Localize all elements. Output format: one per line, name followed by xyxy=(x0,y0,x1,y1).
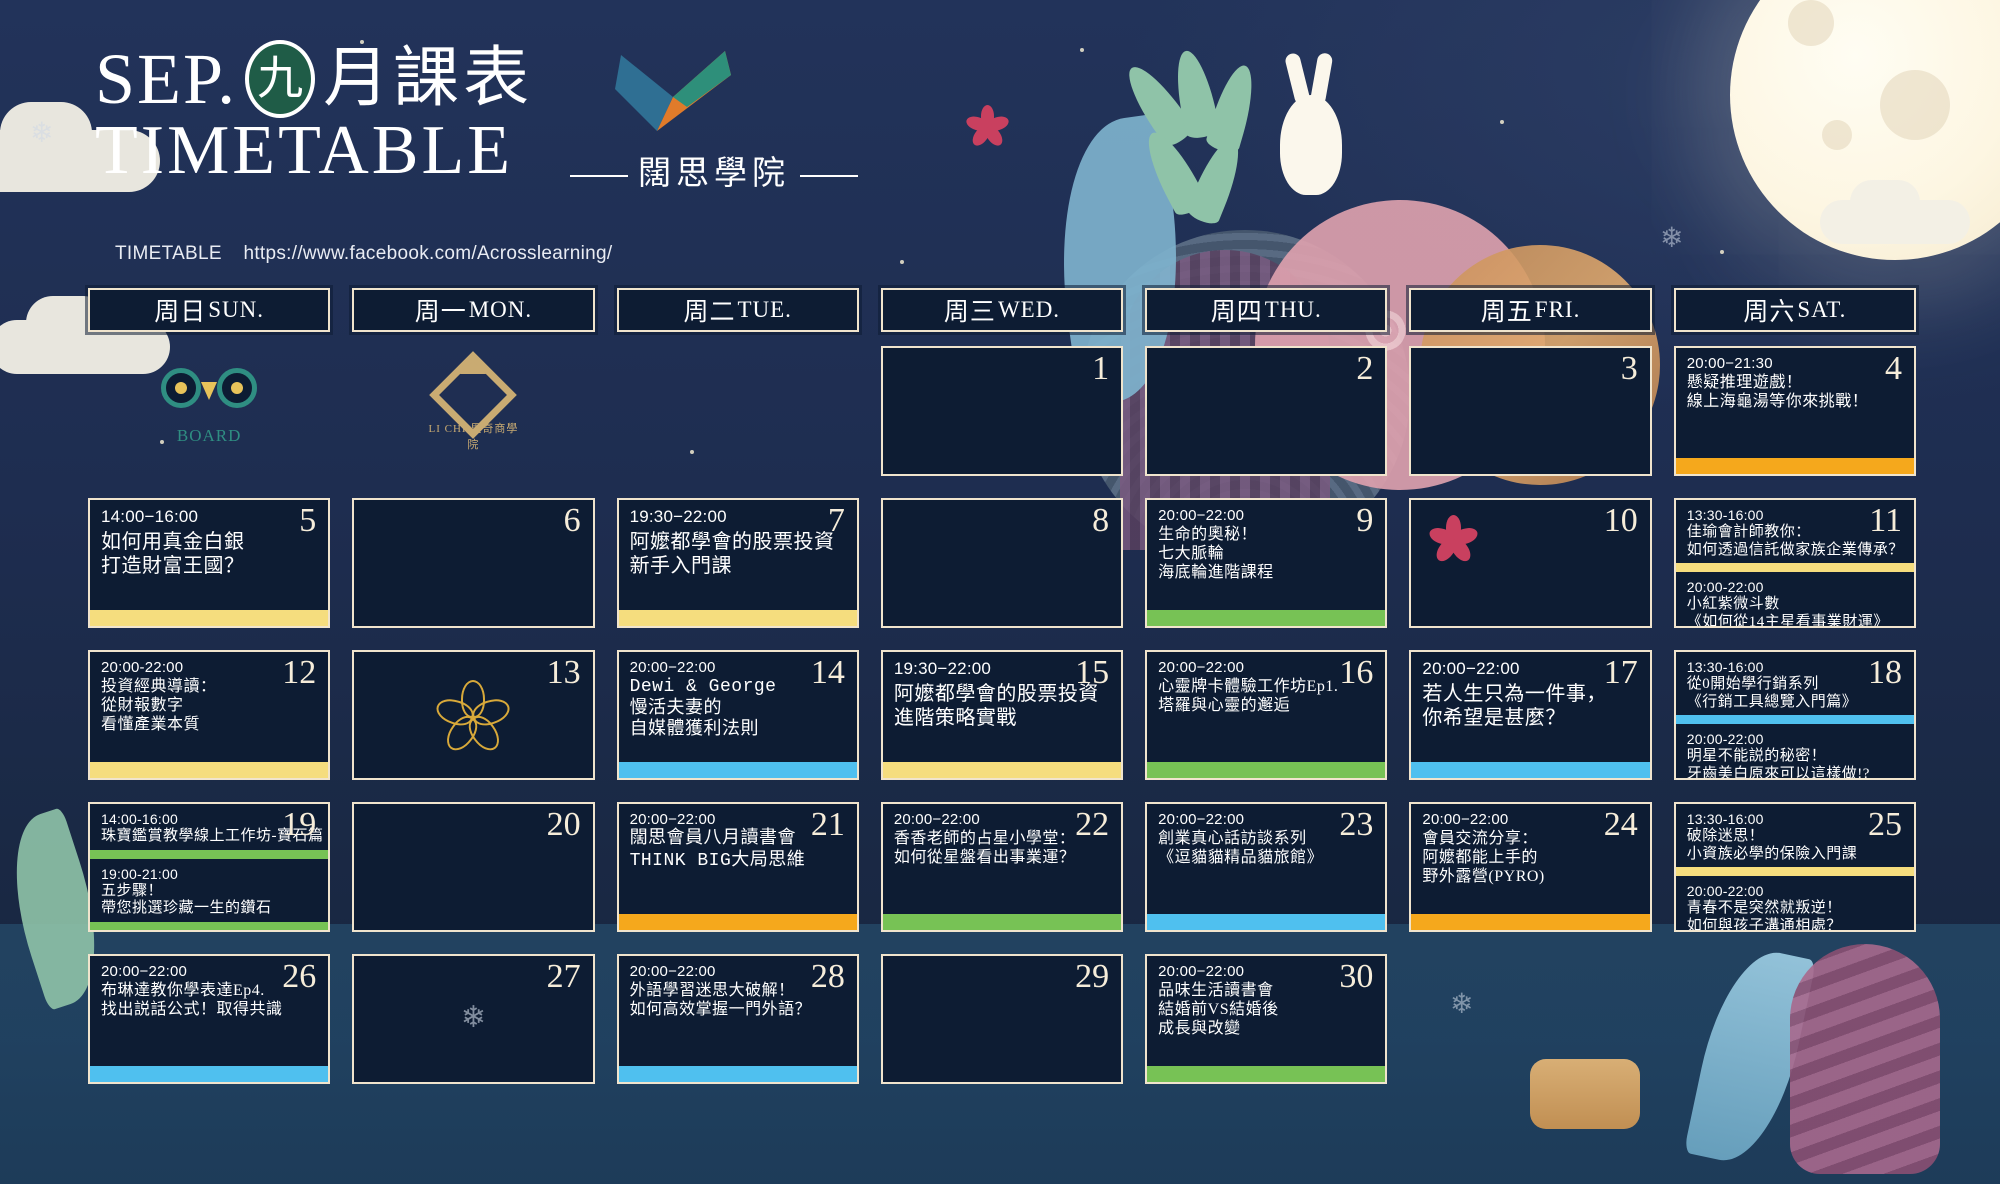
event-item[interactable]: 20:00−22:00若人生只為一件事，你希望是甚麼？ xyxy=(1411,652,1649,735)
weekday-en: TUE. xyxy=(737,297,791,323)
event-title-line: 創業真心話訪談系列 xyxy=(1158,829,1374,848)
calendar-cell-14[interactable]: 1420:00−22:00Dewi & George慢活夫妻的自媒體獲利法則 xyxy=(617,650,859,780)
calendar-cell-24[interactable]: 2420:00−22:00會員交流分享：阿嬤都能上手的野外露營(PYRO) xyxy=(1409,802,1651,932)
event-list: 20:00−22:00心靈牌卡體驗工作坊Ep1.塔羅與心靈的邂逅 xyxy=(1147,652,1385,762)
lichi-logo-text: LI CHI 里奇商學院 xyxy=(427,420,519,452)
event-time: 20:00−22:00 xyxy=(1158,811,1374,828)
event-time: 13:30-16:00 xyxy=(1687,507,1903,523)
event-time: 13:30-16:00 xyxy=(1687,659,1903,675)
event-list: 19:30−22:00阿嬤都學會的股票投資新手入門課 xyxy=(619,500,857,610)
event-title-line: 投資經典導讀： xyxy=(101,677,317,696)
month-badge: 九 xyxy=(245,40,315,118)
event-item[interactable]: 20:00-22:00青春不是突然就叛逆！如何與孩子溝通相處？ xyxy=(1676,876,1914,932)
event-time: 20:00-22:00 xyxy=(1687,731,1903,747)
weekday-cn: 周三 xyxy=(944,292,996,328)
event-time: 20:00−22:00 xyxy=(630,659,846,676)
weekday-en: THU. xyxy=(1265,297,1322,323)
url-line: TIMETABLE https://www.facebook.com/Acros… xyxy=(115,243,612,265)
category-color-bar xyxy=(883,762,1121,778)
category-color-bar xyxy=(619,762,857,778)
event-title-line: 成長與改變 xyxy=(1158,1019,1374,1038)
event-list: 20:00−22:00若人生只為一件事，你希望是甚麼？ xyxy=(1411,652,1649,762)
weekday-header-row: 周日SUN.周一MON.周二TUE.周三WED.周四THU.周五FRI.周六SA… xyxy=(88,288,1916,332)
weekday-header-fri: 周五FRI. xyxy=(1409,288,1651,332)
event-item[interactable]: 14:00−16:00如何用真金白銀打造財富王國？ xyxy=(90,500,328,583)
gold-flower-icon xyxy=(435,678,511,754)
calendar-cell-22[interactable]: 2220:00−22:00香香老師的占星小學堂：如何從星盤看出事業運？ xyxy=(881,802,1123,932)
event-title-line: 進階策略實戰 xyxy=(894,706,1110,730)
calendar-cell-empty: BOARD xyxy=(88,346,330,476)
calendar-cell-9[interactable]: 920:00−22:00生命的奧秘！七大脈輪海底輪進階課程 xyxy=(1145,498,1387,628)
event-list: 13:30-16:00從0開始學行銷系列《行銷工具總覽入門篇》20:00-22:… xyxy=(1676,652,1914,780)
event-list xyxy=(354,804,592,930)
event-list: 13:30-16:00佳瑜會計師教你：如何透過信託做家族企業傳承？20:00-2… xyxy=(1676,500,1914,628)
event-list: 20:00−22:00會員交流分享：阿嬤都能上手的野外露營(PYRO) xyxy=(1411,804,1649,914)
brand-name: 闊思學院 xyxy=(560,146,790,194)
event-title-line: 《逗貓貓精品貓旅館》 xyxy=(1158,848,1374,867)
event-list xyxy=(354,652,592,778)
event-title-line: 線上海龜湯等你來挑戰！ xyxy=(1687,392,1903,411)
event-title-line: 《如何從14主星看事業財運》 xyxy=(1687,614,1903,628)
event-title-line: 外語學習迷思大破解！ xyxy=(630,981,846,1000)
event-time: 20:00−22:00 xyxy=(630,811,846,828)
category-divider xyxy=(1676,867,1914,876)
calendar-cell-16[interactable]: 1620:00−22:00心靈牌卡體驗工作坊Ep1.塔羅與心靈的邂逅 xyxy=(1145,650,1387,780)
owl-logo-text: BOARD xyxy=(155,426,263,446)
event-list xyxy=(1147,348,1385,474)
event-time: 20:00−22:00 xyxy=(1422,659,1638,679)
event-title-line: 心靈牌卡體驗工作坊Ep1. xyxy=(1158,677,1374,696)
calendar-cell-20[interactable]: 20 xyxy=(352,802,594,932)
event-title-line: 帶您挑選珍藏一生的鑽石 xyxy=(101,900,317,918)
event-list xyxy=(617,346,859,476)
calendar-cell-23[interactable]: 2320:00−22:00創業真心話訪談系列《逗貓貓精品貓旅館》 xyxy=(1145,802,1387,932)
event-title-line: 從0開始學行銷系列 xyxy=(1687,676,1903,694)
event-list: 20:00−22:00創業真心話訪談系列《逗貓貓精品貓旅館》 xyxy=(1147,804,1385,914)
event-title-line: 如何從星盤看出事業運？ xyxy=(894,848,1110,867)
title-line-1: SEP. 九 月課表 xyxy=(95,40,533,118)
event-title-line: THINK BIG大局思維 xyxy=(630,851,846,873)
category-color-bar xyxy=(1147,762,1385,778)
calendar-cell-7[interactable]: 719:30−22:00阿嬤都學會的股票投資新手入門課 xyxy=(617,498,859,628)
event-item[interactable]: 20:00−22:00布琳達教你學表達Ep4.找出説話公式！取得共識 xyxy=(90,956,328,1023)
event-list: 19:30−22:00阿嬤都學會的股票投資進階策略實戰 xyxy=(883,652,1121,762)
event-time: 20:00−22:00 xyxy=(894,811,1110,828)
month-abbrev: SEP. xyxy=(95,43,237,115)
event-list: BOARD xyxy=(88,346,330,476)
event-item[interactable]: 20:00−22:00闊思會員八月讀書會THINK BIG大局思維 xyxy=(619,804,857,876)
event-title-line: 新手入門課 xyxy=(630,554,846,578)
event-item[interactable]: 20:00-22:00投資經典導讀：從財報數字看懂產業本質 xyxy=(90,652,328,739)
event-time: 13:30-16:00 xyxy=(1687,811,1903,827)
event-list: 13:30-16:00破除迷思！小資族必學的保險入門課20:00-22:00青春… xyxy=(1676,804,1914,932)
event-time: 19:00-21:00 xyxy=(101,866,317,882)
calendar-cell-17[interactable]: 1720:00−22:00若人生只為一件事，你希望是甚麼？ xyxy=(1409,650,1651,780)
snowflake-icon: ❄ xyxy=(354,1000,592,1035)
event-list: 14:00−16:00如何用真金白銀打造財富王國？ xyxy=(90,500,328,610)
event-list: 20:00−22:00品味生活讀書會結婚前VS結婚後成長與改變 xyxy=(1147,956,1385,1066)
event-title-line: 牙齒美白原來可以這樣做!? xyxy=(1687,766,1903,780)
event-time: 20:00-22:00 xyxy=(101,659,317,676)
event-title-line: 明星不能説的秘密！ xyxy=(1687,748,1903,766)
event-list xyxy=(1411,500,1649,626)
event-title-line: 打造財富王國？ xyxy=(101,554,317,578)
weekday-header-mon: 周一MON. xyxy=(352,288,594,332)
category-divider xyxy=(1676,563,1914,572)
calendar-cell-12[interactable]: 1220:00-22:00投資經典導讀：從財報數字看懂產業本質 xyxy=(88,650,330,780)
event-list: ❄ xyxy=(354,956,592,1082)
event-title-line: 青春不是突然就叛逆！ xyxy=(1687,900,1903,918)
event-item[interactable]: 20:00-22:00小紅紫微斗數《如何從14主星看事業財運》 xyxy=(1676,572,1914,628)
category-color-bar xyxy=(1676,458,1914,474)
calendar-cell-25[interactable]: 2513:30-16:00破除迷思！小資族必學的保險入門課20:00-22:00… xyxy=(1674,802,1916,932)
event-time: 20:00−21:30 xyxy=(1687,355,1903,372)
event-time: 20:00-22:00 xyxy=(1687,579,1903,595)
event-item[interactable]: 20:00−22:00心靈牌卡體驗工作坊Ep1.塔羅與心靈的邂逅 xyxy=(1147,652,1385,719)
event-title-line: 布琳達教你學表達Ep4. xyxy=(101,981,317,1000)
weekday-header-sat: 周六SAT. xyxy=(1674,288,1916,332)
calendar-cell-2[interactable]: 2 xyxy=(1145,346,1387,476)
event-time: 14:00−16:00 xyxy=(101,507,317,527)
event-list xyxy=(1674,954,1916,1084)
calendar-cell-21[interactable]: 2120:00−22:00闊思會員八月讀書會THINK BIG大局思維 xyxy=(617,802,859,932)
page-title: TIMETABLE xyxy=(95,114,533,188)
facebook-url[interactable]: https://www.facebook.com/Acrosslearning/ xyxy=(243,243,612,264)
category-color-bar xyxy=(1147,914,1385,930)
event-time: 20:00−22:00 xyxy=(1158,963,1374,980)
calendar-cell-18[interactable]: 1813:30-16:00從0開始學行銷系列《行銷工具總覽入門篇》20:00-2… xyxy=(1674,650,1916,780)
event-title-line: 五步驟！ xyxy=(101,883,317,901)
event-time: 20:00−22:00 xyxy=(630,963,846,980)
calendar-cell-19[interactable]: 1914:00-16:00珠寶鑑賞教學線上工作坊-寶石篇19:00-21:00五… xyxy=(88,802,330,932)
event-list: 20:00−22:00闊思會員八月讀書會THINK BIG大局思維 xyxy=(619,804,857,914)
event-title-line: 若人生只為一件事， xyxy=(1422,682,1638,706)
url-label: TIMETABLE xyxy=(115,243,222,264)
weekday-cn: 周五 xyxy=(1481,292,1533,328)
event-list: LI CHI 里奇商學院 xyxy=(352,346,594,476)
weekday-header-tue: 周二TUE. xyxy=(617,288,859,332)
weekday-header-wed: 周三WED. xyxy=(881,288,1123,332)
event-title-line: 找出説話公式！取得共識 xyxy=(101,1000,317,1019)
event-time: 20:00−22:00 xyxy=(1158,659,1374,676)
event-list: 20:00−22:00外語學習迷思大破解！如何高效掌握一門外語？ xyxy=(619,956,857,1066)
event-title-line: 野外露營(PYRO) xyxy=(1422,867,1638,886)
weekday-header-thu: 周四THU. xyxy=(1145,288,1387,332)
event-list xyxy=(883,956,1121,1082)
calendar-cell-6[interactable]: 6 xyxy=(352,498,594,628)
event-title-line: 看懂產業本質 xyxy=(101,715,317,734)
event-title-line: 阿嬤都學會的股票投資 xyxy=(630,530,846,554)
event-list xyxy=(1409,954,1651,1084)
event-title-line: 小資族必學的保險入門課 xyxy=(1687,846,1903,864)
event-item[interactable]: 13:30-16:00從0開始學行銷系列《行銷工具總覽入門篇》 xyxy=(1676,652,1914,715)
event-title-line: 珠寶鑑賞教學線上工作坊-寶石篇 xyxy=(101,828,317,846)
calendar-cell-1[interactable]: 1 xyxy=(881,346,1123,476)
event-item[interactable]: 19:00-21:00五步驟！帶您挑選珍藏一生的鑽石 xyxy=(90,859,328,922)
event-item[interactable]: 13:30-16:00佳瑜會計師教你：如何透過信託做家族企業傳承？ xyxy=(1676,500,1914,563)
x-logo-icon xyxy=(613,45,738,140)
event-item[interactable]: 20:00-22:00明星不能説的秘密！牙齒美白原來可以這樣做!? xyxy=(1676,724,1914,780)
event-item[interactable]: 20:00−22:00品味生活讀書會結婚前VS結婚後成長與改變 xyxy=(1147,956,1385,1043)
event-title-line: 慢活夫妻的 xyxy=(630,699,846,721)
event-time: 20:00-22:00 xyxy=(1687,883,1903,899)
event-list xyxy=(1411,348,1649,474)
calendar-cell-11[interactable]: 1113:30-16:00佳瑜會計師教你：如何透過信託做家族企業傳承？20:00… xyxy=(1674,498,1916,628)
weekday-en: WED. xyxy=(998,297,1060,323)
calendar-grid: BOARDLI CHI 里奇商學院123420:00−21:30懸疑推理遊戲！線… xyxy=(88,346,1916,1084)
weekday-en: FRI. xyxy=(1535,297,1581,323)
brand-logo: 闊思學院 xyxy=(560,45,790,194)
weekday-header-sun: 周日SUN. xyxy=(88,288,330,332)
title-chinese: 月課表 xyxy=(323,46,533,112)
weekday-en: SUN. xyxy=(208,297,264,323)
calendar-cell-30[interactable]: 3020:00−22:00品味生活讀書會結婚前VS結婚後成長與改變 xyxy=(1145,954,1387,1084)
calendar-cell-empty: LI CHI 里奇商學院 xyxy=(352,346,594,476)
event-title-line: 如何高效掌握一門外語？ xyxy=(630,1000,846,1019)
event-title-line: 《行銷工具總覽入門篇》 xyxy=(1687,694,1903,712)
event-item[interactable]: 20:00−22:00Dewi & George慢活夫妻的自媒體獲利法則 xyxy=(619,652,857,746)
weekday-cn: 周日 xyxy=(154,292,206,328)
event-list xyxy=(883,348,1121,474)
calendar-cell-27[interactable]: 27❄ xyxy=(352,954,594,1084)
category-color-bar xyxy=(1147,1066,1385,1082)
event-title-line: 闊思會員八月讀書會 xyxy=(630,829,846,851)
calendar-cell-26[interactable]: 2620:00−22:00布琳達教你學表達Ep4.找出説話公式！取得共識 xyxy=(88,954,330,1084)
poster-header: SEP. 九 月課表 TIMETABLE xyxy=(95,40,533,188)
event-item[interactable]: 20:00−22:00香香老師的占星小學堂：如何從星盤看出事業運？ xyxy=(883,804,1121,871)
category-color-bar xyxy=(619,1066,857,1082)
red-blossom-icon xyxy=(1427,514,1479,566)
event-time: 20:00−22:00 xyxy=(1158,507,1374,524)
event-list: 20:00−22:00Dewi & George慢活夫妻的自媒體獲利法則 xyxy=(619,652,857,762)
weekday-cn: 周二 xyxy=(683,292,735,328)
calendar-cell-29[interactable]: 29 xyxy=(881,954,1123,1084)
event-title-line: 會員交流分享： xyxy=(1422,829,1638,848)
board-owl-logo: BOARD xyxy=(155,360,263,444)
category-color-bar xyxy=(619,610,857,626)
category-color-bar xyxy=(90,922,328,932)
lichi-logo: LI CHI 里奇商學院 xyxy=(427,358,519,454)
calendar-cell-empty xyxy=(1674,954,1916,1084)
event-list: 20:00−22:00布琳達教你學表達Ep4.找出説話公式！取得共識 xyxy=(90,956,328,1066)
event-list xyxy=(354,500,592,626)
event-time: 20:00−22:00 xyxy=(101,963,317,980)
event-title-line: 海底輪進階課程 xyxy=(1158,563,1374,582)
category-color-bar xyxy=(90,762,328,778)
event-list: 14:00-16:00珠寶鑑賞教學線上工作坊-寶石篇19:00-21:00五步驟… xyxy=(90,804,328,922)
category-color-bar xyxy=(1411,914,1649,930)
event-title-line: 如何與孩子溝通相處？ xyxy=(1687,918,1903,932)
event-list: 20:00−22:00香香老師的占星小學堂：如何從星盤看出事業運？ xyxy=(883,804,1121,914)
category-color-bar xyxy=(1411,762,1649,778)
event-list: 20:00-22:00投資經典導讀：從財報數字看懂產業本質 xyxy=(90,652,328,762)
event-time: 19:30−22:00 xyxy=(894,659,1110,679)
calendar-cell-4[interactable]: 420:00−21:30懸疑推理遊戲！線上海龜湯等你來挑戰！ xyxy=(1674,346,1916,476)
event-item[interactable]: 13:30-16:00破除迷思！小資族必學的保險入門課 xyxy=(1676,804,1914,867)
event-title-line: 小紅紫微斗數 xyxy=(1687,596,1903,614)
category-color-bar xyxy=(90,610,328,626)
event-item[interactable]: 14:00-16:00珠寶鑑賞教學線上工作坊-寶石篇 xyxy=(90,804,328,850)
event-title-line: 佳瑜會計師教你： xyxy=(1687,524,1903,542)
event-title-line: 破除迷思！ xyxy=(1687,828,1903,846)
event-item[interactable]: 19:30−22:00阿嬤都學會的股票投資進階策略實戰 xyxy=(883,652,1121,735)
event-title-line: 結婚前VS結婚後 xyxy=(1158,1000,1374,1019)
event-title-line: 如何用真金白銀 xyxy=(101,530,317,554)
event-title-line: 生命的奧秘！ xyxy=(1158,525,1374,544)
weekday-cn: 周四 xyxy=(1211,292,1263,328)
weekday-en: MON. xyxy=(469,297,532,323)
weekday-cn: 周一 xyxy=(415,292,467,328)
event-title-line: 品味生活讀書會 xyxy=(1158,981,1374,1000)
category-color-bar xyxy=(619,914,857,930)
category-color-bar xyxy=(883,914,1121,930)
event-item[interactable]: 19:30−22:00阿嬤都學會的股票投資新手入門課 xyxy=(619,500,857,583)
event-item[interactable]: 20:00−22:00會員交流分享：阿嬤都能上手的野外露營(PYRO) xyxy=(1411,804,1649,891)
event-title-line: 七大脈輪 xyxy=(1158,544,1374,563)
calendar-cell-13[interactable]: 13 xyxy=(352,650,594,780)
category-divider xyxy=(90,850,328,859)
event-time: 20:00−22:00 xyxy=(1422,811,1638,828)
event-title-line: 阿嬤都學會的股票投資 xyxy=(894,682,1110,706)
calendar-cell-empty xyxy=(1409,954,1651,1084)
category-color-bar xyxy=(90,1066,328,1082)
event-item[interactable]: 20:00−22:00生命的奧秘！七大脈輪海底輪進階課程 xyxy=(1147,500,1385,587)
calendar-cell-3[interactable]: 3 xyxy=(1409,346,1651,476)
calendar-cell-empty xyxy=(617,346,859,476)
event-item[interactable]: 20:00−22:00創業真心話訪談系列《逗貓貓精品貓旅館》 xyxy=(1147,804,1385,871)
weekday-cn: 周六 xyxy=(1743,292,1795,328)
calendar-cell-8[interactable]: 8 xyxy=(881,498,1123,628)
calendar-cell-15[interactable]: 1519:30−22:00阿嬤都學會的股票投資進階策略實戰 xyxy=(881,650,1123,780)
calendar-cell-28[interactable]: 2820:00−22:00外語學習迷思大破解！如何高效掌握一門外語？ xyxy=(617,954,859,1084)
event-title-line: 你希望是甚麼？ xyxy=(1422,706,1638,730)
calendar-cell-10[interactable]: 10 xyxy=(1409,498,1651,628)
event-title-line: 塔羅與心靈的邂逅 xyxy=(1158,696,1374,715)
event-title-line: Dewi & George xyxy=(630,677,846,699)
brand-name-text: 闊思學院 xyxy=(638,156,790,192)
event-list: 20:00−22:00生命的奧秘！七大脈輪海底輪進階課程 xyxy=(1147,500,1385,610)
event-item[interactable]: 20:00−22:00外語學習迷思大破解！如何高效掌握一門外語？ xyxy=(619,956,857,1023)
event-time: 19:30−22:00 xyxy=(630,507,846,527)
category-color-bar xyxy=(1147,610,1385,626)
event-title-line: 自媒體獲利法則 xyxy=(630,720,846,742)
event-title-line: 香香老師的占星小學堂： xyxy=(894,829,1110,848)
event-time: 14:00-16:00 xyxy=(101,811,317,827)
weekday-en: SAT. xyxy=(1797,297,1846,323)
event-title-line: 懸疑推理遊戲！ xyxy=(1687,373,1903,392)
event-title-line: 從財報數字 xyxy=(101,696,317,715)
event-item[interactable]: 20:00−21:30懸疑推理遊戲！線上海龜湯等你來挑戰！ xyxy=(1676,348,1914,415)
calendar-cell-5[interactable]: 514:00−16:00如何用真金白銀打造財富王國？ xyxy=(88,498,330,628)
event-title-line: 阿嬤都能上手的 xyxy=(1422,848,1638,867)
event-title-line: 如何透過信託做家族企業傳承？ xyxy=(1687,542,1903,560)
category-divider xyxy=(1676,715,1914,724)
event-list: 20:00−21:30懸疑推理遊戲！線上海龜湯等你來挑戰！ xyxy=(1676,348,1914,458)
event-list xyxy=(883,500,1121,626)
